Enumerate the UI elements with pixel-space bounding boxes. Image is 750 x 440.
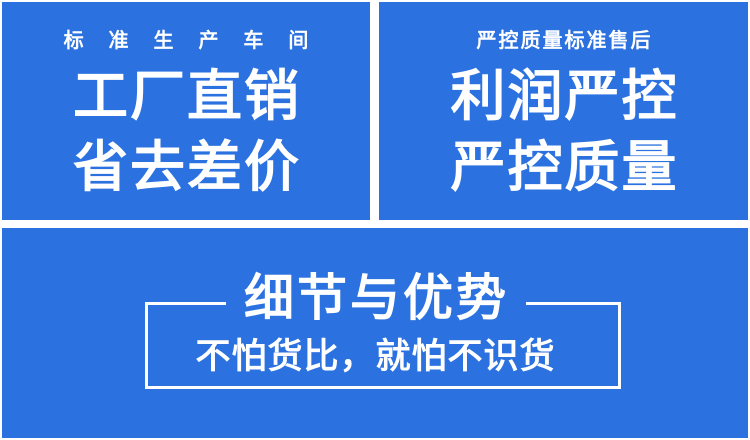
factory-headline-line2: 省去差价 xyxy=(71,140,301,195)
factory-headline-line1: 工厂直销 xyxy=(71,69,301,124)
panel-factory-direct-sales: 标 准 生 产 车 间 工厂直销 省去差价 xyxy=(2,2,370,220)
promo-banner: 标 准 生 产 车 间 工厂直销 省去差价 严控质量标准售后 利润严控 严控质量… xyxy=(0,0,750,440)
panel-factory-content: 标 准 生 产 车 间 工厂直销 省去差价 xyxy=(2,2,370,220)
quality-eyebrow-text: 严控质量标准售后 xyxy=(475,30,653,50)
factory-eyebrow-text: 标 准 生 产 车 间 xyxy=(55,30,318,50)
quality-headline-line2: 严控质量 xyxy=(448,140,678,195)
details-subtitle-text: 不怕货比，就怕不识货 xyxy=(2,340,748,375)
quality-headline-line1: 利润严控 xyxy=(448,69,678,124)
panel-quality-control: 严控质量标准售后 利润严控 严控质量 xyxy=(379,2,748,220)
details-title-text: 细节与优势 xyxy=(2,273,748,323)
panel-details-advantages: 细节与优势 不怕货比，就怕不识货 xyxy=(2,228,748,438)
panel-quality-content: 严控质量标准售后 利润严控 严控质量 xyxy=(379,2,748,220)
